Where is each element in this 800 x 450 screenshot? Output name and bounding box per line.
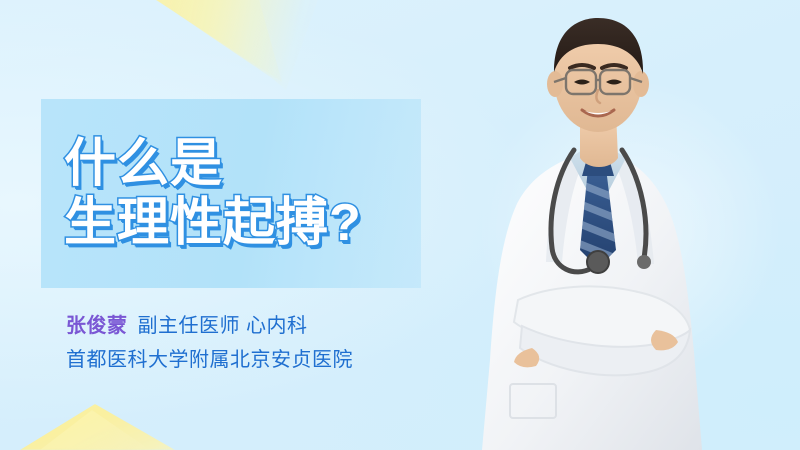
doctor-credentials: 副主任医师 心内科 (138, 315, 308, 337)
byline: 张俊蒙副主任医师 心内科 首都医科大学附属北京安贞医院 (66, 312, 496, 375)
hospital-name: 首都医科大学附属北京安贞医院 (66, 346, 496, 375)
headline-line-1: 什么是 (64, 138, 484, 191)
page-title: 什么是 生理性起搏? (64, 138, 484, 250)
byline-row-primary: 张俊蒙副主任医师 心内科 (66, 312, 496, 341)
doctor-name: 张俊蒙 (66, 315, 128, 337)
stethoscope-chestpiece-icon (587, 251, 609, 273)
headline-line-2: 生理性起搏? (64, 197, 484, 250)
doctor-portrait (470, 0, 730, 450)
poster-canvas: 什么是 生理性起搏? 张俊蒙副主任医师 心内科 首都医科大学附属北京安贞医院 (0, 0, 800, 450)
